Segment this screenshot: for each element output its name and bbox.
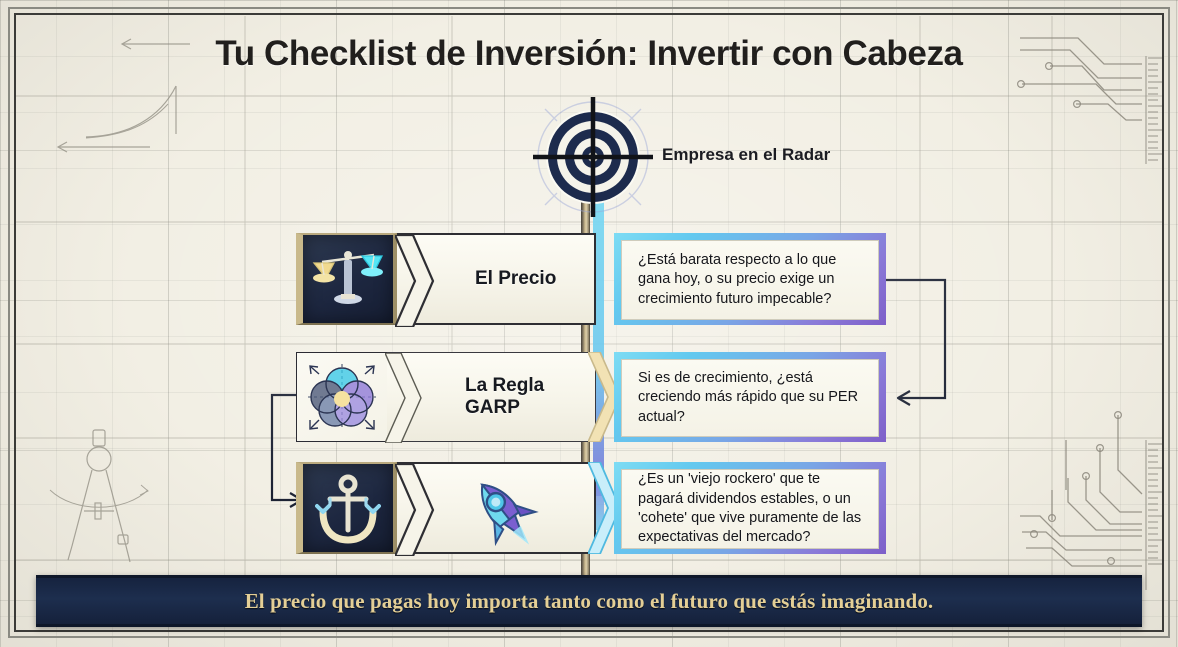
page-title: Tu Checklist de Inversión: Invertir con … [0, 34, 1178, 74]
question-card: Si es de crecimiento, ¿está creciendo má… [614, 352, 886, 442]
question-text: Si es de crecimiento, ¿está creciendo má… [622, 369, 878, 427]
row-label-panel: El Precio [397, 233, 596, 325]
row-label-panel [397, 462, 596, 554]
footer-quote: El precio que pagas hoy importa tanto co… [245, 589, 934, 614]
chevron-right-icon [385, 353, 425, 443]
footer-banner: El precio que pagas hoy importa tanto co… [36, 575, 1142, 627]
row-label-panel: La Regla GARP [387, 352, 596, 442]
row-capsule: La Regla GARP [296, 352, 596, 442]
chevron-right-icon [395, 464, 435, 556]
anchor-icon [296, 462, 397, 554]
balance-scale-icon [296, 233, 397, 325]
question-text: ¿Es un 'viejo rockero' que te pagará div… [622, 470, 878, 547]
radar-label: Empresa en el Radar [662, 145, 830, 165]
question-text: ¿Está barata respecto a lo que gana hoy,… [622, 251, 878, 309]
infographic-canvas: Tu Checklist de Inversión: Invertir con … [0, 0, 1178, 647]
rocket-icon [459, 474, 545, 546]
question-card: ¿Es un 'viejo rockero' que te pagará div… [614, 462, 886, 554]
row-capsule [296, 462, 596, 554]
row-capsule: El Precio [296, 233, 596, 325]
chevron-right-icon [395, 235, 435, 327]
checklist-row: ¿Es un 'viejo rockero' que te pagará div… [296, 462, 886, 554]
checklist-row: La Regla GARP Si es de crecimiento, ¿est… [296, 352, 886, 442]
venn-circles-icon [296, 352, 387, 442]
target-bullseye-icon [533, 97, 653, 217]
question-card: ¿Está barata respecto a lo que gana hoy,… [614, 233, 886, 325]
checklist-row: El Precio ¿Está barata respecto a lo que… [296, 233, 886, 325]
